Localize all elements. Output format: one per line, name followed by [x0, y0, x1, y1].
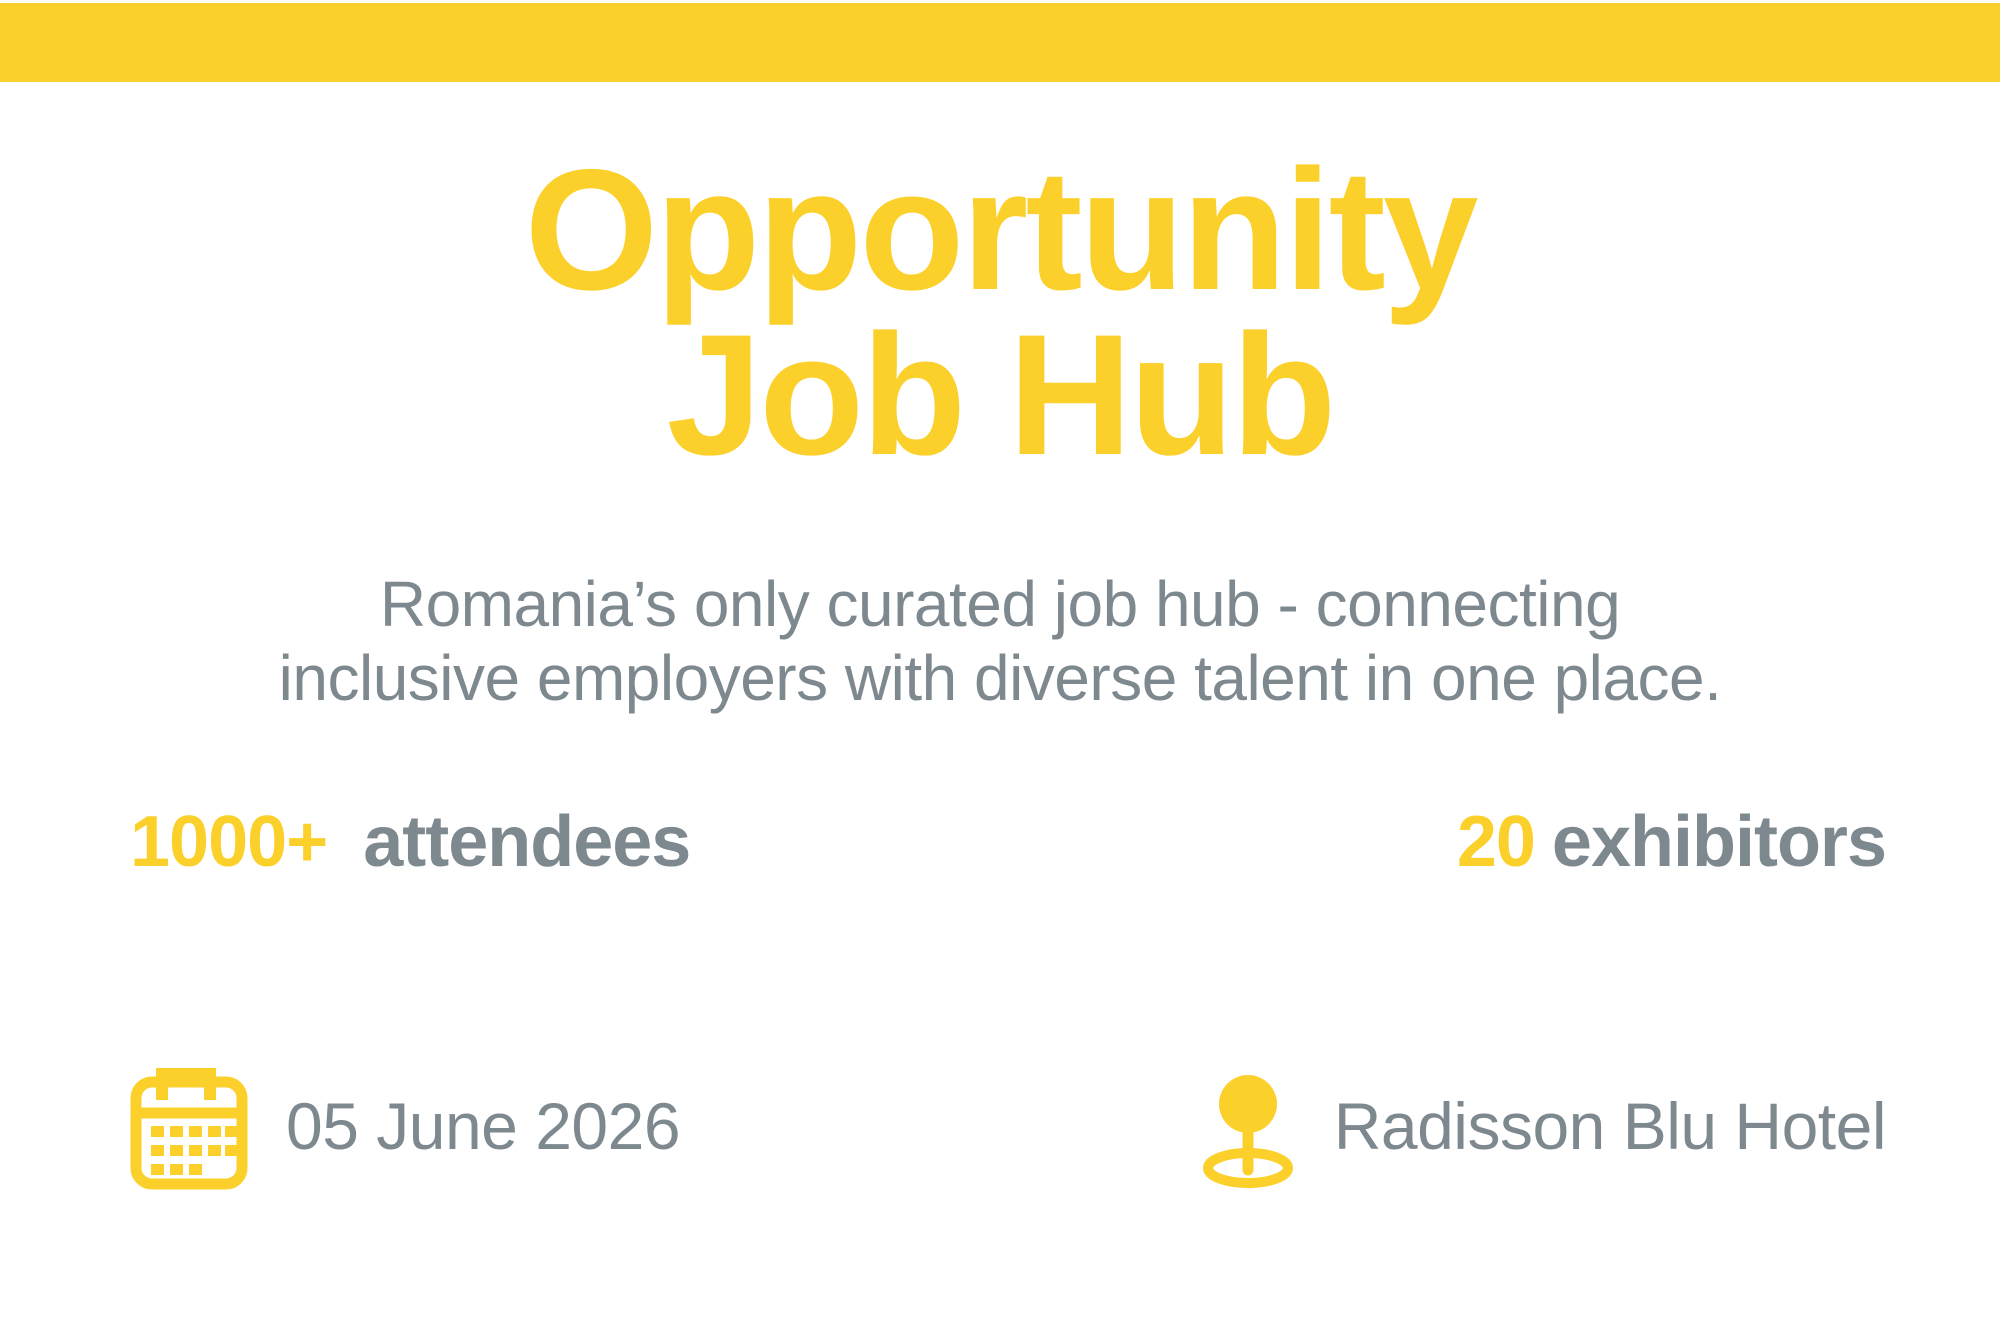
- event-poster: Opportunity Job Hub Romania’s only curat…: [0, 0, 2000, 1333]
- subtitle-line-2: inclusive employers with diverse talent …: [0, 642, 2000, 716]
- stat-exhibitors: 20 exhibitors: [1457, 806, 1886, 878]
- stat-exhibitors-number: 20: [1457, 806, 1535, 878]
- top-accent-bar: [0, 3, 2000, 82]
- event-venue-text: Radisson Blu Hotel: [1334, 1093, 1886, 1159]
- calendar-icon: [130, 1062, 248, 1190]
- stat-exhibitors-label: exhibitors: [1552, 806, 1886, 878]
- info-row: 05 June 2026 Radisson Blu Hotel: [130, 1062, 1886, 1190]
- stats-row: 1000+ attendees 20 exhibitors: [130, 806, 1886, 878]
- stat-attendees-number: 1000+: [130, 806, 327, 878]
- event-date-text: 05 June 2026: [286, 1093, 680, 1159]
- event-venue: Radisson Blu Hotel: [1198, 1062, 1886, 1190]
- page-title: Opportunity Job Hub: [0, 148, 2000, 478]
- title-line-1: Opportunity: [0, 148, 2000, 313]
- location-pin-icon: [1198, 1062, 1298, 1190]
- subtitle: Romania’s only curated job hub - connect…: [0, 568, 2000, 715]
- event-date: 05 June 2026: [130, 1062, 680, 1190]
- title-line-2: Job Hub: [0, 313, 2000, 478]
- stat-attendees-label: attendees: [363, 806, 690, 878]
- subtitle-line-1: Romania’s only curated job hub - connect…: [0, 568, 2000, 642]
- stat-attendees: 1000+ attendees: [130, 806, 690, 878]
